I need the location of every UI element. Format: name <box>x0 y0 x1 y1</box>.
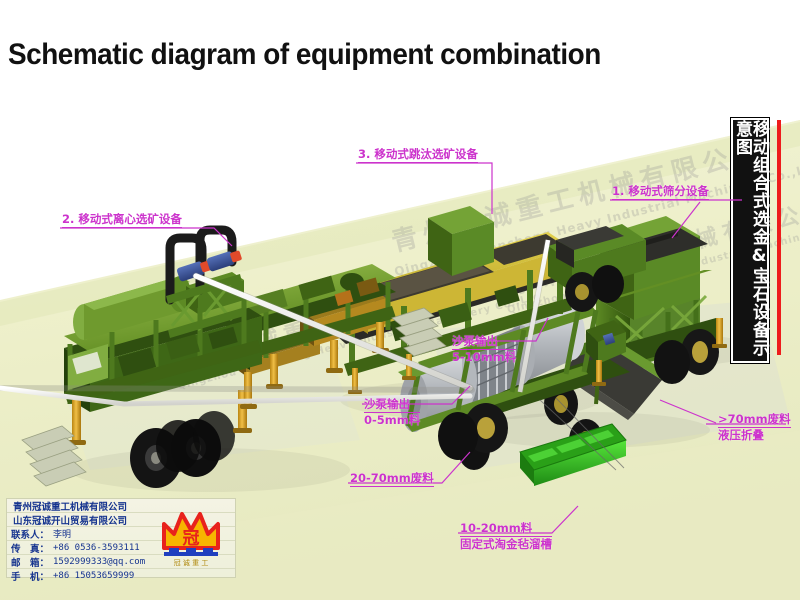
callout-sluice-10-20-line2: 固定式淘金毡溜槽 <box>460 537 552 551</box>
callout-label-1-text: 1. 移动式筛分设备 <box>612 184 709 200</box>
contact-label: 联系人： <box>11 527 51 541</box>
callout-waste-over-70-line1: >70mm废料 <box>718 412 791 428</box>
email-value: 1592999333@qq.com <box>53 557 145 567</box>
callout-sand-pump-0-5: 沙泵输出 0-5mm料 <box>364 397 420 428</box>
callout-label-1: 1. 移动式筛分设备 <box>612 184 709 200</box>
callout-sluice-10-20: 10-20mm料 固定式淘金毡溜槽 <box>460 521 552 552</box>
crown-logo-subtitle: 冠 诚 重 工 <box>174 558 209 567</box>
vertical-banner: 移动组合式选金&宝石设备示意图 <box>731 118 769 363</box>
callout-waste-over-70-line2: 液压折叠 <box>718 428 764 442</box>
banner-accent-bar <box>777 120 781 355</box>
callout-sluice-10-20-line1: 10-20mm料 <box>460 521 552 537</box>
callout-sand-pump-5-10-line2: 5-10mm料 <box>452 350 516 364</box>
company-name-2: 山东冠诚开山贸易有限公司 <box>13 513 127 527</box>
callout-sand-pump-0-5-line2: 0-5mm料 <box>364 413 420 427</box>
fax-label: 传 真： <box>11 541 51 555</box>
callout-sand-pump-0-5-line1: 沙泵输出 <box>364 397 420 413</box>
company-row-5: 手 机： +86 15053659999 <box>7 569 235 582</box>
callout-sand-pump-5-10-line1: 沙泵输出 <box>452 334 516 350</box>
vertical-banner-text: 移动组合式选金&宝石设备示意图 <box>733 120 767 361</box>
callout-label-2: 2. 移动式离心选矿设备 <box>62 212 182 228</box>
contact-value: 李明 <box>53 527 71 540</box>
schematic-canvas: 青州冠诚重工机械有限公司 Qingzhou Guancheng Heavy In… <box>0 0 800 600</box>
callout-label-3: 3. 移动式跳汰选矿设备 <box>358 147 478 163</box>
callout-sand-pump-5-10: 沙泵输出 5-10mm料 <box>452 334 516 365</box>
page-title: Schematic diagram of equipment combinati… <box>8 38 601 72</box>
fax-value: +86 0536-3593111 <box>53 543 140 553</box>
email-label: 邮 箱： <box>11 555 51 569</box>
callout-label-3-text: 3. 移动式跳汰选矿设备 <box>358 147 478 163</box>
mobile-label: 手 机： <box>11 569 51 583</box>
callout-waste-20-70: 20-70mm废料 <box>350 471 434 487</box>
callout-label-2-text: 2. 移动式离心选矿设备 <box>62 212 182 228</box>
callout-waste-over-70: >70mm废料 液压折叠 <box>718 412 791 443</box>
callout-waste-20-70-text: 20-70mm废料 <box>350 471 434 487</box>
company-name-1: 青州冠诚重工机械有限公司 <box>13 499 127 513</box>
mobile-value: +86 15053659999 <box>53 571 134 581</box>
crown-logo-icon: 冠 冠 诚 重 工 <box>160 508 222 570</box>
svg-text:冠: 冠 <box>183 529 200 549</box>
